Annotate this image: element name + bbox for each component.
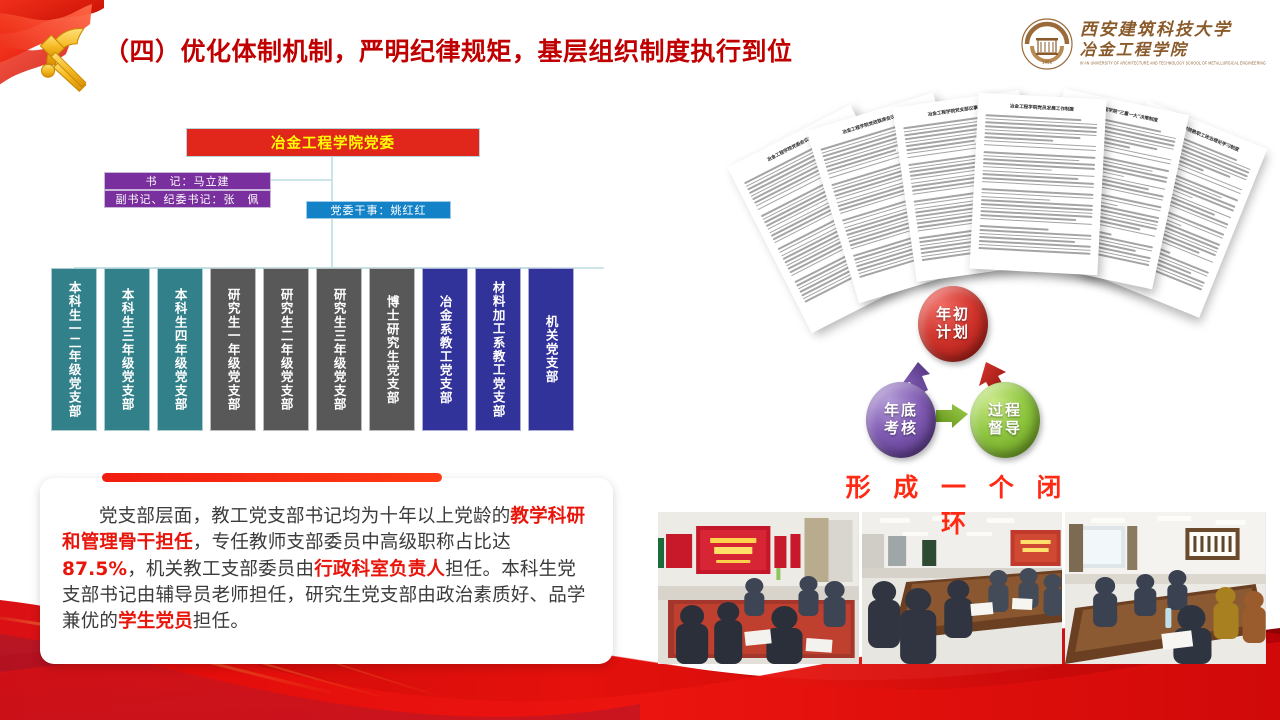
cycle-node-review-line2: 考核 (884, 420, 918, 438)
org-secretary-box: 书 记：马立建 (104, 172, 271, 190)
org-branch-box: 研究生三年级党支部 (316, 268, 362, 431)
cycle-diagram: 年初 计划 过程 督导 年底 考核 (840, 286, 1070, 466)
org-party-staff-box: 党委干事：姚红红 (306, 201, 451, 219)
org-branch-box: 博士研究生党支部 (369, 268, 415, 431)
org-branch-box: 研究生一年级党支部 (210, 268, 256, 431)
summary-card-text: 党支部层面，教工党支部书记均为十年以上党龄的教学科研和管理骨干担任，专任教师支部… (62, 504, 591, 635)
cycle-node-supervise-line2: 督导 (988, 420, 1022, 438)
org-branch-box: 本科生四年级党支部 (157, 268, 203, 431)
document-page: 冶金工程学院党员发展工作制度 (969, 93, 1106, 275)
cycle-node-supervise-line1: 过程 (988, 402, 1022, 420)
org-branch-row: 本科生一二年级党支部本科生三年级党支部本科生四年级党支部研究生一年级党支部研究生… (51, 268, 623, 431)
org-top-box: 冶金工程学院党委 (186, 128, 480, 157)
org-chart: 冶金工程学院党委 书 记：马立建 副书记、纪委书记：张 佩 党委干事：姚红红 本… (48, 118, 628, 448)
org-branch-box: 研究生二年级党支部 (263, 268, 309, 431)
cycle-node-plan-line1: 年初 (936, 306, 970, 324)
org-branch-box: 机关党支部 (528, 268, 574, 431)
org-branch-box: 本科生一二年级党支部 (51, 268, 97, 431)
org-branch-box: 材料加工系教工党支部 (475, 268, 521, 431)
university-logo: 1956 西安建筑科技大学 冶金工程学院 XI'AN UNIVERSITY OF… (1021, 18, 1266, 70)
university-seal-icon: 1956 (1021, 18, 1073, 70)
svg-text:1956: 1956 (1042, 60, 1053, 65)
cycle-node-review-line1: 年底 (884, 402, 918, 420)
cycle-node-plan: 年初 计划 (918, 286, 988, 362)
green-arrow-supervise-to-review (936, 404, 968, 428)
logo-university-name: 西安建筑科技大学 (1080, 22, 1266, 39)
org-branch-box: 本科生三年级党支部 (104, 268, 150, 431)
card-accent-bar (102, 473, 442, 482)
logo-school-name: 冶金工程学院 (1080, 42, 1266, 58)
meeting-photo-3 (1065, 512, 1266, 664)
cycle-node-review: 年底 考核 (866, 382, 936, 458)
meeting-photo-1 (658, 512, 859, 664)
slide-canvas: （四）优化体制机制，严明纪律规矩，基层组织制度执行到位 1956 西安建筑科技大… (0, 0, 1280, 720)
document-title: 冶金工程学院党员发展工作制度 (986, 102, 1098, 114)
cycle-caption: 形 成 一 个 闭 环 (832, 468, 1082, 540)
org-deputy-secretary-box: 副书记、纪委书记：张 佩 (104, 190, 271, 208)
page-title: （四）优化体制机制，严明纪律规矩，基层组织制度执行到位 (104, 32, 793, 68)
org-branch-box: 冶金系教工党支部 (422, 268, 468, 431)
logo-english-name: XI'AN UNIVERSITY OF ARCHITECTURE AND TEC… (1080, 62, 1266, 66)
cycle-node-plan-line2: 计划 (936, 324, 970, 342)
summary-card: 党支部层面，教工党支部书记均为十年以上党龄的教学科研和管理骨干担任，专任教师支部… (40, 478, 613, 664)
cycle-node-supervise: 过程 督导 (970, 382, 1040, 458)
